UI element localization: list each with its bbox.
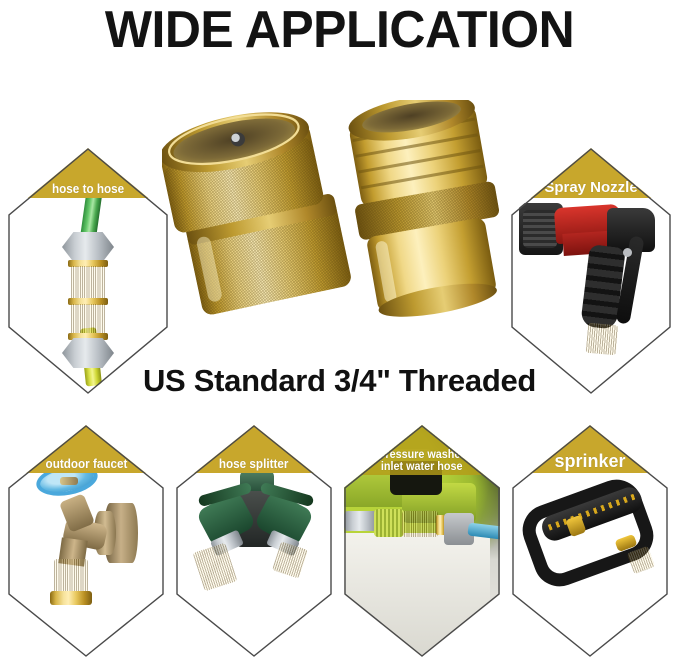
hex-label-sprinker: sprinker (554, 452, 625, 470)
hex-label-outdoor-faucet: outdoor faucet (45, 457, 127, 470)
center-caption: US Standard 3/4" Threaded (0, 363, 679, 399)
hex-cell-pressure-washer: pressure washer inlet water hose (344, 425, 500, 657)
hex-body-hose-to-hose: hose to hose (8, 148, 168, 394)
pw-steel-inlet (344, 511, 378, 531)
hex-cell-hose-splitter: hose splitter (176, 425, 332, 657)
hex-label-hose-to-hose: hose to hose (52, 182, 124, 195)
brass-coupler-lower (71, 304, 105, 334)
hex-cell-outdoor-faucet: outdoor faucet (8, 425, 164, 657)
hex-label-pressure-washer-line2: inlet water hose (381, 459, 463, 473)
hex-cell-hose-to-hose: hose to hose (8, 148, 168, 394)
pw-green-nut (374, 509, 404, 537)
hex-cell-sprinker: sprinker (512, 425, 668, 657)
pw-white-tank (344, 533, 490, 657)
label-banner-pressure-washer: pressure washer inlet water hose (344, 425, 500, 475)
label-banner-hose-splitter: hose splitter (176, 425, 332, 473)
sprinkler-frame (515, 472, 660, 593)
nozzle-brass-fitting (586, 323, 619, 356)
hex-body-pressure-washer: pressure washer inlet water hose (344, 425, 500, 657)
pw-brass-coupler (402, 511, 438, 537)
hex-body-sprinker: sprinker (512, 425, 668, 657)
hose-nut-top (62, 232, 114, 262)
hex-body-outdoor-faucet: outdoor faucet (8, 425, 164, 657)
hex-cell-spray-nozzle: Spray Nozzle (511, 148, 671, 394)
label-banner-spray-nozzle: Spray Nozzle (511, 148, 671, 198)
hex-label-hose-splitter: hose splitter (219, 457, 289, 470)
faucet-brass-ring (50, 591, 92, 605)
faucet-handle-screw (60, 477, 78, 485)
page-title: WIDE APPLICATION (14, 2, 666, 58)
product-male-adapter (336, 100, 526, 320)
label-banner-outdoor-faucet: outdoor faucet (8, 425, 164, 473)
nozzle-head-dial (523, 210, 557, 248)
hex-body-hose-splitter: hose splitter (176, 425, 332, 657)
product-infographic: WIDE APPLICATION hose to hose (0, 0, 679, 664)
hex-label-spray-nozzle: Spray Nozzle (544, 180, 637, 195)
hex-body-spray-nozzle: Spray Nozzle (511, 148, 671, 394)
nozzle-trigger-pin (623, 248, 632, 257)
brass-coupler-upper (71, 266, 105, 300)
label-banner-hose-to-hose: hose to hose (8, 148, 168, 198)
faucet-brass-coupler (54, 559, 88, 593)
label-banner-sprinker: sprinker (512, 425, 668, 473)
product-female-coupler (162, 104, 362, 324)
hex-label-pressure-washer: pressure washer inlet water hose (379, 448, 465, 472)
